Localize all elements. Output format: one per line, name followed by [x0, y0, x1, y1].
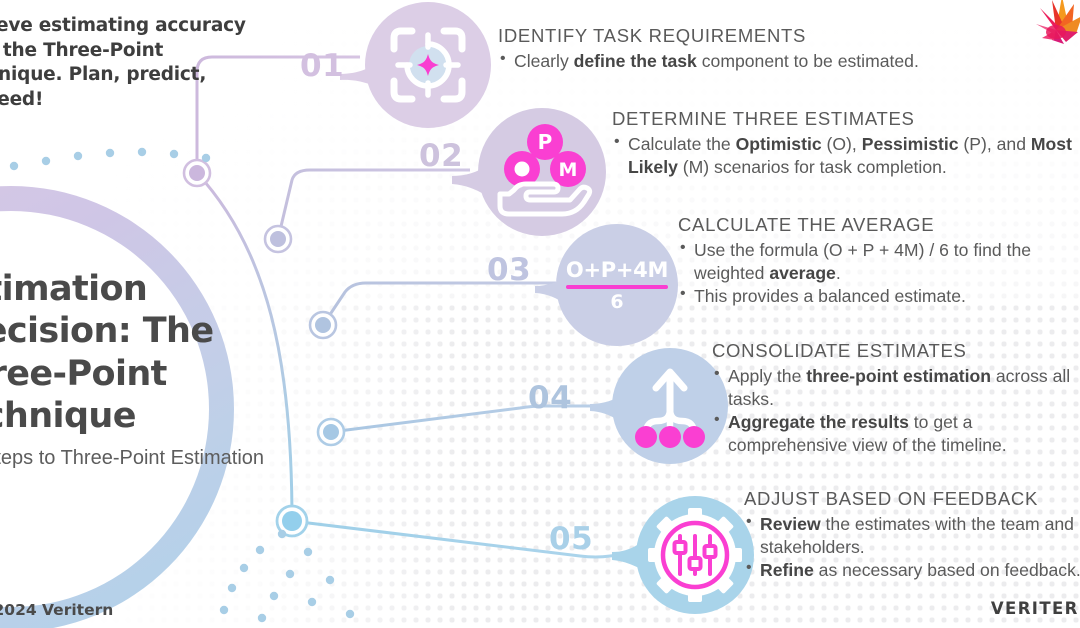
- decorative-dot-arc-top: [0, 138, 220, 178]
- step-icon-bubble-05: [636, 496, 754, 614]
- step-number-05: 05: [549, 521, 593, 557]
- step-text-01: IDENTIFY TASK REQUIREMENTS Clearly defin…: [498, 25, 1080, 73]
- list-item: Refine as necessary based on feedback.: [744, 559, 1080, 582]
- step-icon-bubble-01: [365, 2, 491, 128]
- step-heading-02: DETERMINE THREE ESTIMATES: [612, 108, 1080, 130]
- step-heading-05: ADJUST BASED ON FEEDBACK: [744, 488, 1080, 510]
- step-number-01: 01: [300, 48, 344, 84]
- merge-arrow-icon: [625, 363, 715, 449]
- formula-denominator: 6: [566, 291, 668, 313]
- step-text-02: DETERMINE THREE ESTIMATES Calculate the …: [612, 108, 1080, 179]
- list-item: This provides a balanced estimate.: [678, 285, 1080, 308]
- formula-icon: O+P+4M 6: [566, 258, 668, 313]
- list-item: Clearly define the task component to be …: [498, 50, 1080, 73]
- brand-logo-text: VERITERN: [991, 599, 1080, 618]
- hero-text-block: Estimation Precision: The Three-Point Te…: [0, 268, 272, 471]
- page-subtitle: Key Steps to Three-Point Estimation: [0, 446, 272, 471]
- svg-text:P: P: [538, 130, 553, 154]
- gear-sliders-icon: [646, 506, 744, 604]
- step-bullets-01: Clearly define the task component to be …: [498, 50, 1080, 73]
- list-item: Review the estimates with the team and s…: [744, 513, 1080, 559]
- step-bullets-04: Apply the three-point estimation across …: [712, 365, 1080, 457]
- list-item: Use the formula (O + P + 4M) / 6 to find…: [678, 239, 1080, 285]
- connector-node-04: [318, 419, 344, 445]
- step-number-04: 04: [528, 380, 572, 416]
- hand-holding-estimates-icon: P M: [490, 122, 594, 222]
- step-bullets-03: Use the formula (O + P + 4M) / 6 to find…: [678, 239, 1080, 308]
- decorative-dot-arc-bottom: [200, 522, 370, 628]
- step-text-03: CALCULATE THE AVERAGE Use the formula (O…: [678, 214, 1080, 308]
- list-item: Calculate the Optimistic (O), Pessimisti…: [612, 133, 1080, 179]
- step-heading-04: CONSOLIDATE ESTIMATES: [712, 340, 1080, 362]
- infographic-canvas: Achieve estimating accuracy with the Thr…: [0, 0, 1080, 628]
- target-crosshair-icon: [382, 19, 474, 111]
- step-bullets-02: Calculate the Optimistic (O), Pessimisti…: [612, 133, 1080, 179]
- svg-text:M: M: [559, 159, 578, 181]
- headline-text: Achieve estimating accuracy with the Thr…: [0, 14, 252, 112]
- connector-node-02: [265, 226, 291, 252]
- step-heading-01: IDENTIFY TASK REQUIREMENTS: [498, 25, 1080, 47]
- copyright-text: ©2024 Veritern: [0, 601, 113, 619]
- flower-decoration-icon: [1030, 0, 1080, 56]
- step-icon-bubble-04: [612, 348, 728, 464]
- page-title: Estimation Precision: The Three-Point Te…: [0, 268, 272, 437]
- step-text-04: CONSOLIDATE ESTIMATES Apply the three-po…: [712, 340, 1080, 457]
- step-icon-bubble-03: O+P+4M 6: [556, 224, 678, 346]
- formula-numerator: O+P+4M: [566, 258, 668, 282]
- formula-bar: [566, 285, 668, 289]
- step-icon-bubble-02: P M: [478, 108, 606, 236]
- step-text-05: ADJUST BASED ON FEEDBACK Review the esti…: [744, 488, 1080, 582]
- connector-node-03: [310, 312, 336, 338]
- step-number-03: 03: [487, 252, 531, 288]
- step-bullets-05: Review the estimates with the team and s…: [744, 513, 1080, 582]
- list-item: Aggregate the results to get a comprehen…: [712, 411, 1080, 457]
- list-item: Apply the three-point estimation across …: [712, 365, 1080, 411]
- step-heading-03: CALCULATE THE AVERAGE: [678, 214, 1080, 236]
- step-number-02: 02: [419, 138, 463, 174]
